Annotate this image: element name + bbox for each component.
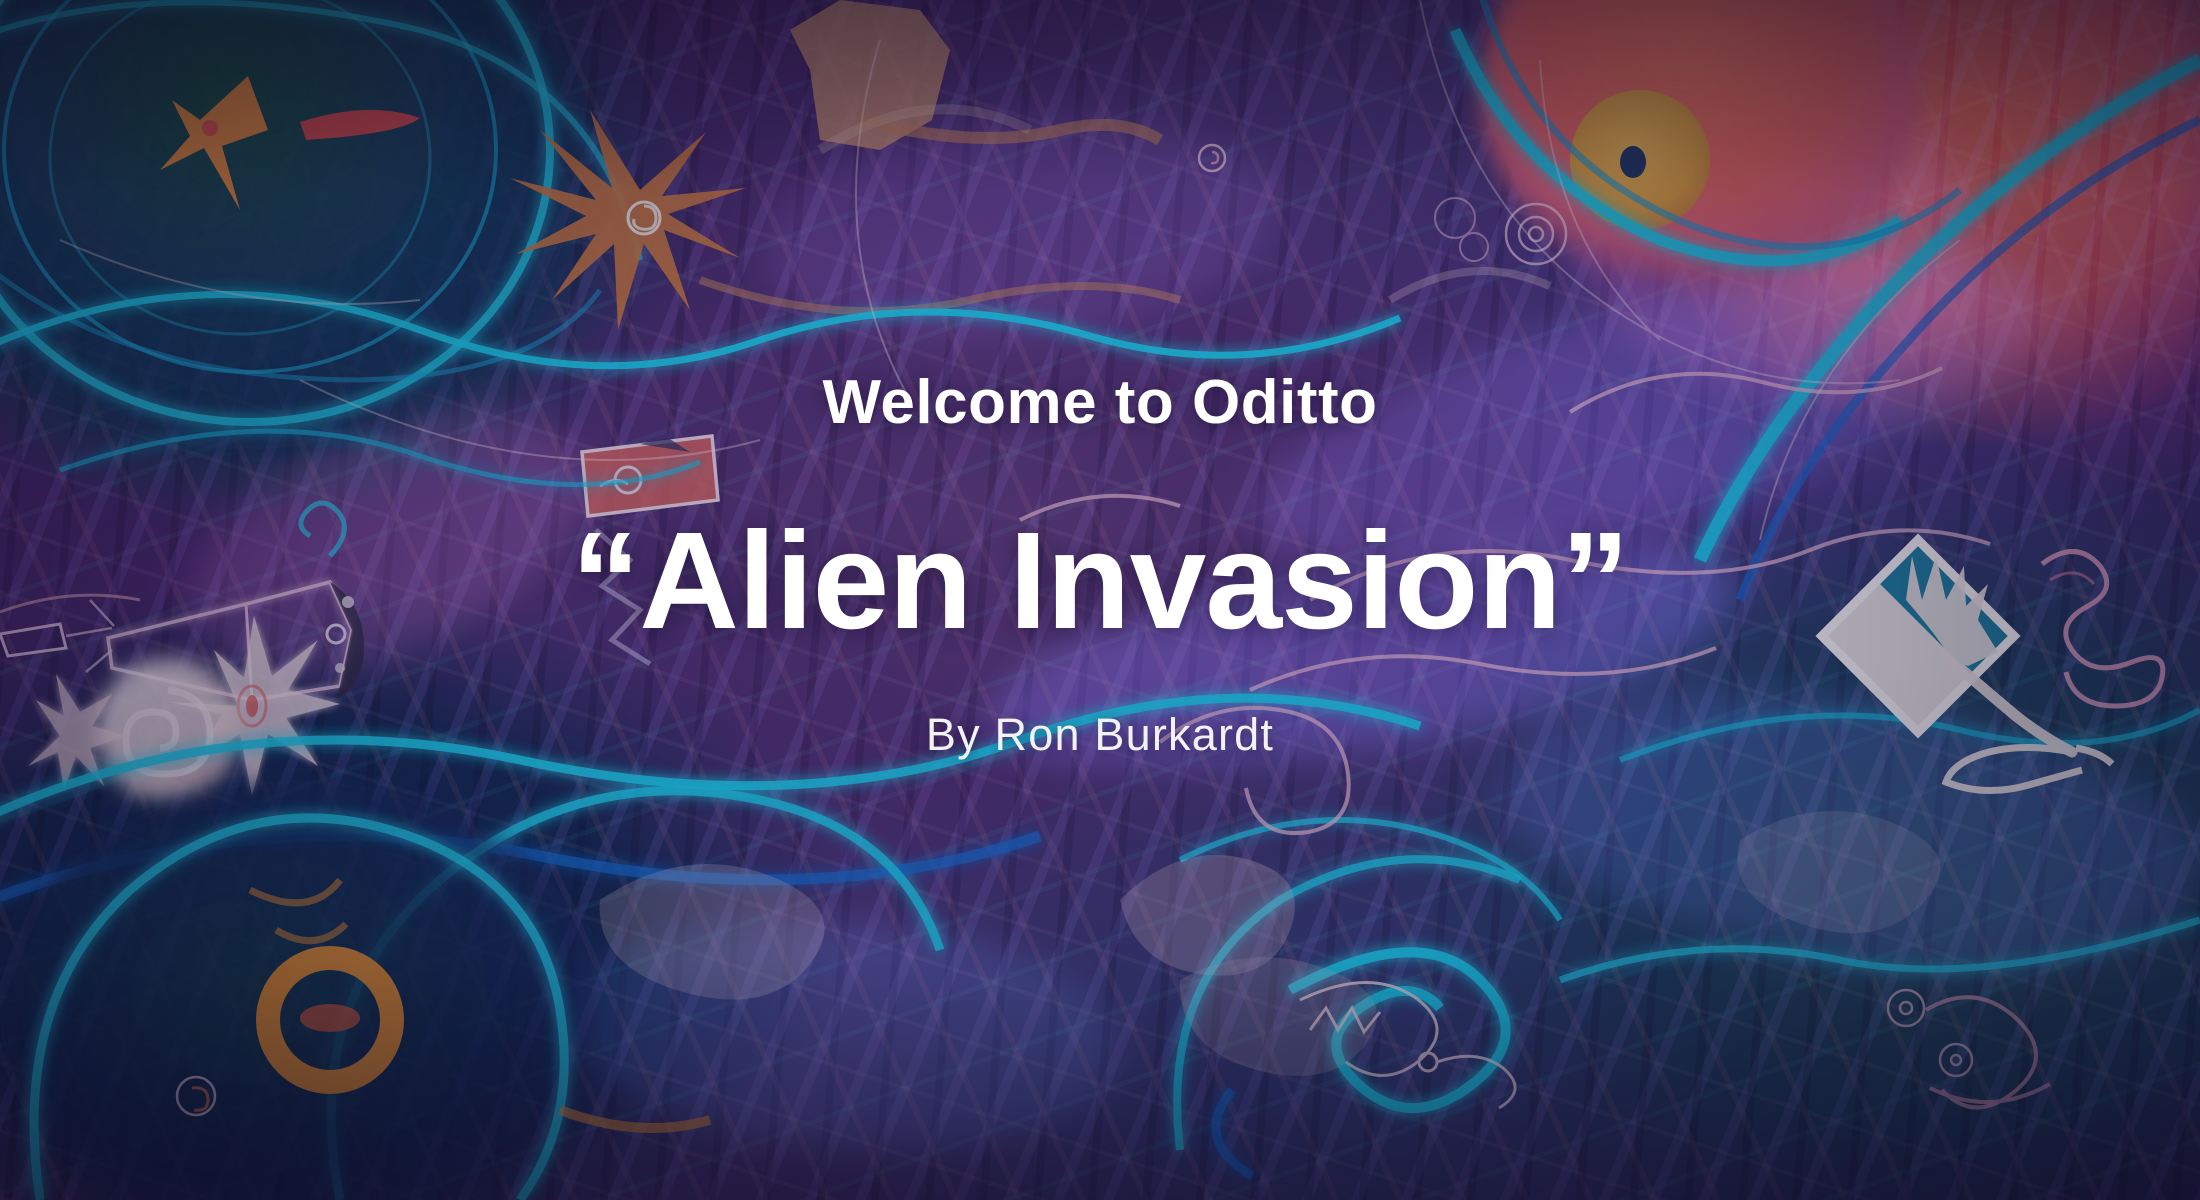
welcome-heading: Welcome to Oditto <box>822 372 1377 434</box>
hero-text-block: Welcome to Oditto “Alien Invasion” By Ro… <box>0 0 2200 1200</box>
hero-banner: Welcome to Oditto “Alien Invasion” By Ro… <box>0 0 2200 1200</box>
page-title: “Alien Invasion” <box>571 512 1629 650</box>
author-byline: By Ron Burkardt <box>926 712 1274 757</box>
